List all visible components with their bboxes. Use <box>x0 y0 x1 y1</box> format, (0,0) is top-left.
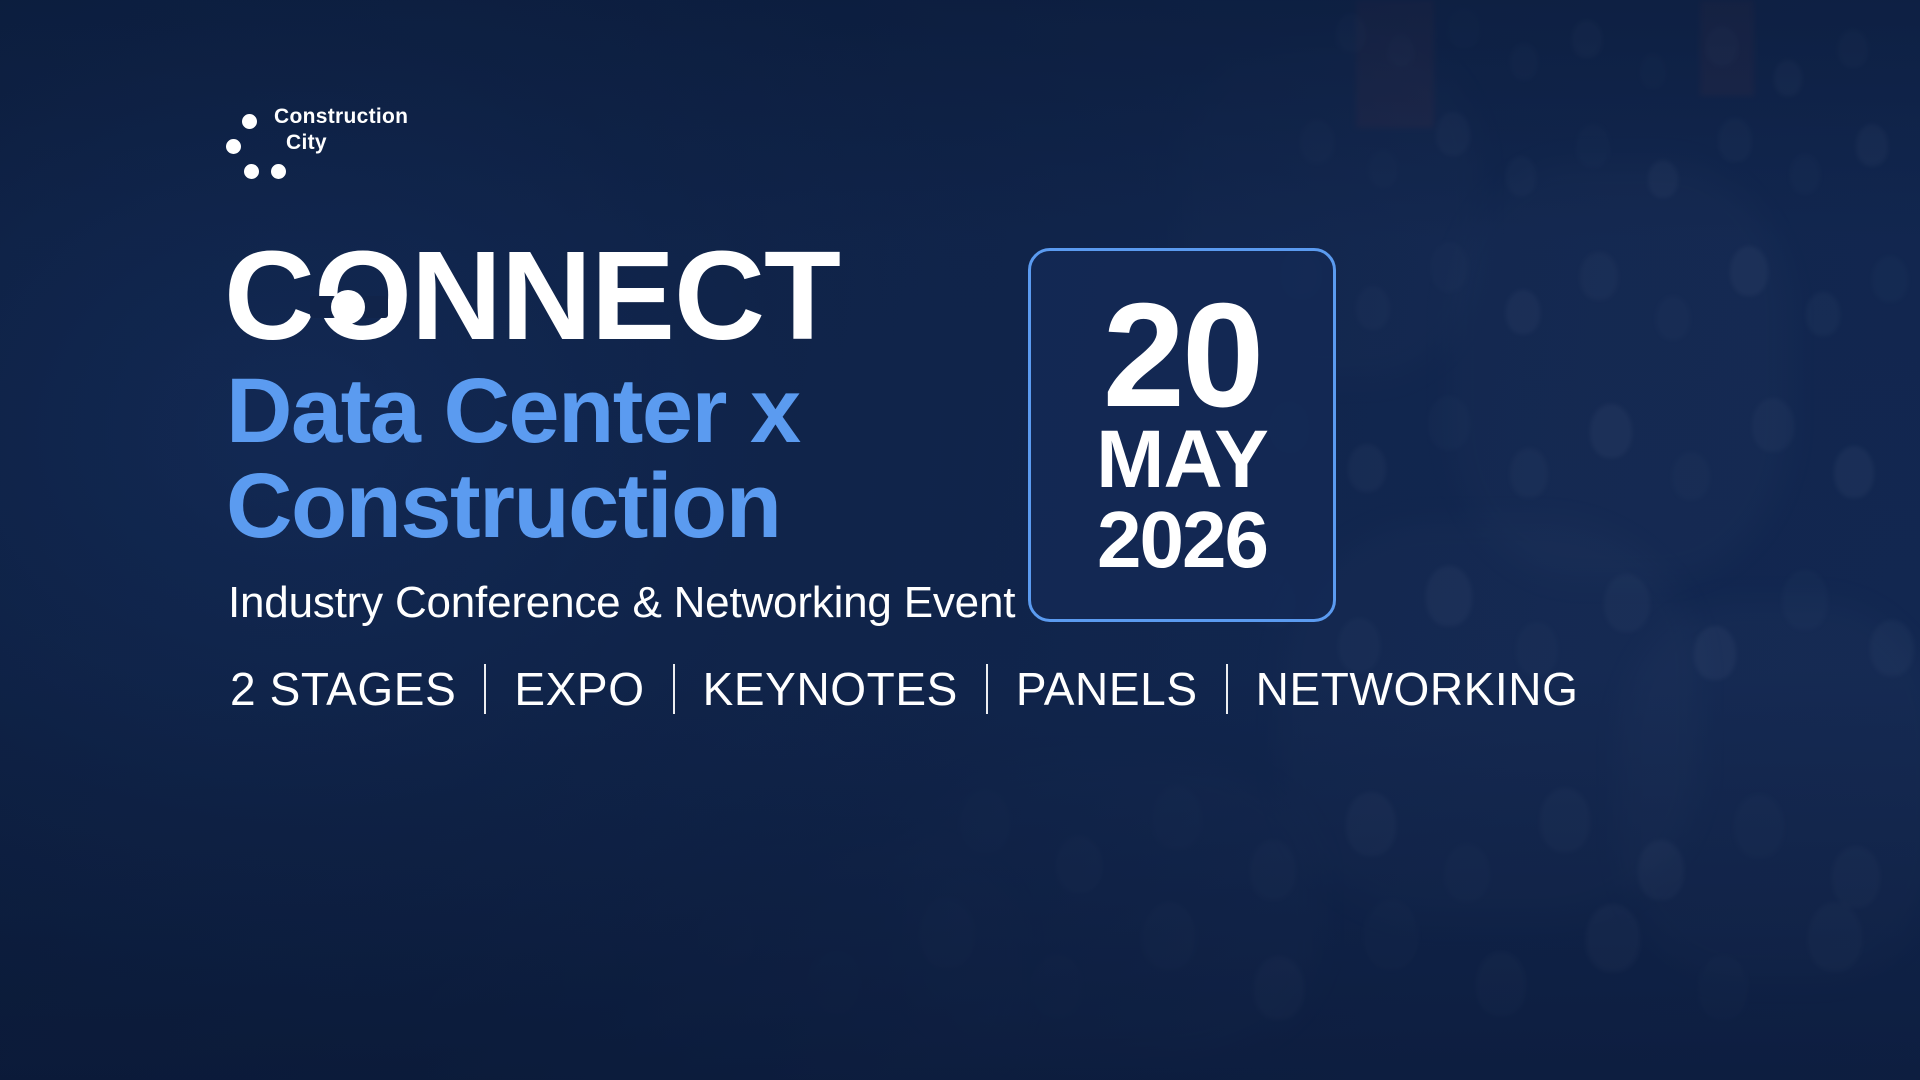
connect-wordmark: CONNECT <box>224 240 840 352</box>
event-date-year: 2026 <box>1097 502 1267 579</box>
page-title: Data Center x Construction <box>226 364 800 554</box>
feature-item-panels: PANELS <box>1014 662 1200 716</box>
feature-strip: 2 STAGES EXPO KEYNOTES PANELS NETWORKING <box>228 662 1581 716</box>
wordmark-o-notch <box>364 296 388 318</box>
event-date-day: 20 <box>1103 292 1262 419</box>
feature-separator <box>673 664 675 714</box>
logo-dot-icon <box>244 164 259 179</box>
feature-separator <box>1226 664 1228 714</box>
event-date-badge: 20 MAY 2026 <box>1028 248 1336 622</box>
headline-line1: Data Center x <box>226 360 800 462</box>
feature-separator <box>484 664 486 714</box>
brand-name-line2: City <box>286 131 327 155</box>
logo-dot-icon <box>226 139 241 154</box>
headline-line2: Construction <box>226 459 800 554</box>
feature-item-expo: EXPO <box>512 662 646 716</box>
logo-dot-icon <box>242 114 257 129</box>
brand-name-line1: Construction <box>274 105 408 129</box>
brand-logo[interactable]: Construction City <box>228 98 648 184</box>
logo-dot-icon <box>271 164 286 179</box>
event-banner: Construction City CONNECT Data Center x … <box>0 0 1920 1080</box>
feature-separator <box>986 664 988 714</box>
event-date-month: MAY <box>1096 421 1268 500</box>
page-subtitle: Industry Conference & Networking Event <box>228 578 1015 628</box>
feature-item-keynotes: KEYNOTES <box>701 662 960 716</box>
feature-item-networking: NETWORKING <box>1254 662 1581 716</box>
wordmark-center-dot-icon <box>331 290 365 324</box>
feature-item-stages: 2 STAGES <box>228 662 458 716</box>
